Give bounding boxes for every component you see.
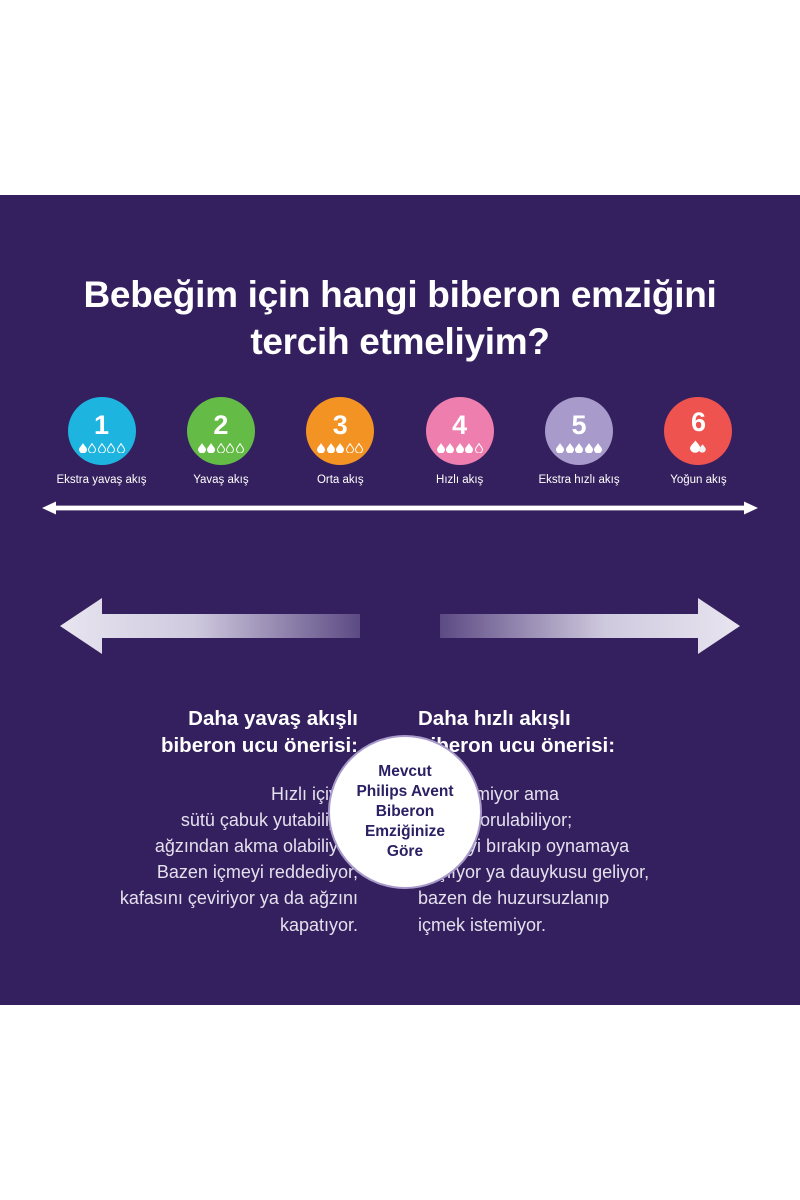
flow-circle-2[interactable]: 2 <box>187 397 255 465</box>
faster-flow-heading: Daha hızlı akışlı biberon ucu önerisi: <box>418 705 764 759</box>
flow-number-3: 3 <box>333 412 348 439</box>
drops-icon-3 <box>317 442 363 453</box>
slower-flow-body-line-1: Hızlı içiyor, <box>56 781 358 807</box>
flow-item-5[interactable]: 5 Ekstra hızlı akış <box>520 397 639 486</box>
infographic-canvas: Bebeğim için hangi biberon emziğini terc… <box>0 0 800 1200</box>
badge-line-1: Mevcut <box>356 762 453 782</box>
drop-icon-empty <box>98 443 106 453</box>
drop-icon-empty <box>475 443 483 453</box>
flow-label-3: Orta akış <box>317 474 364 486</box>
faster-flow-body-line-4: başlıyor ya dauykusu geliyor, <box>418 859 764 885</box>
drop-icon-filled <box>317 443 325 453</box>
drop-icon-empty <box>346 443 354 453</box>
flow-label-6: Yoğun akış <box>670 474 726 486</box>
drop-icon-empty <box>117 443 125 453</box>
flow-range-double-arrow <box>42 500 758 516</box>
slower-flow-body-line-6: kapatıyor. <box>56 912 358 938</box>
current-teat-badge-text: Mevcut Philips Avent Biberon Emziğinize … <box>356 762 453 863</box>
slower-flow-body-line-3: ağzından akma olabiliyor. <box>56 833 358 859</box>
slower-flow-body-line-5: kafasını çeviriyor ya da ağzını <box>56 885 358 911</box>
flow-label-2: Yavaş akış <box>193 474 248 486</box>
faster-flow-body-line-6: içmek istemiyor. <box>418 912 764 938</box>
slower-flow-body-line-4: Bazen içmeyi reddediyor, <box>56 859 358 885</box>
drop-icon-filled <box>446 443 454 453</box>
flow-circle-6[interactable]: 6 <box>664 397 732 465</box>
title-line-1: Bebeğim için hangi biberon emziğini <box>40 271 760 318</box>
flow-item-6[interactable]: 6 Yoğun akış <box>639 397 758 486</box>
slower-flow-heading-line-2: biberon ucu önerisi: <box>56 732 358 759</box>
title-line-2: tercih etmeliyim? <box>40 318 760 365</box>
slower-flow-body: Hızlı içiyor, sütü çabuk yutabiliyor, ağ… <box>56 781 358 938</box>
drop-icon-empty <box>226 443 234 453</box>
drop-icon-empty <box>107 443 115 453</box>
slower-flow-body-line-2: sütü çabuk yutabiliyor, <box>56 807 358 833</box>
drop-icon-filled <box>437 443 445 453</box>
badge-line-2: Philips Avent <box>356 782 453 802</box>
drop-icon-filled <box>198 443 206 453</box>
drop-icon-filled <box>207 443 215 453</box>
page-title: Bebeğim için hangi biberon emziğini terc… <box>0 271 800 366</box>
faster-flow-body-line-5: bazen de huzursuzlanıp <box>418 885 764 911</box>
drop-icon-empty <box>355 443 363 453</box>
flow-item-2[interactable]: 2 Yavaş akış <box>161 397 280 486</box>
flow-number-5: 5 <box>572 412 587 439</box>
faster-flow-heading-line-1: Daha hızlı akışlı <box>418 705 764 732</box>
drop-icon-empty <box>236 443 244 453</box>
flow-label-4: Hızlı akış <box>436 474 483 486</box>
slower-flow-heading: Daha yavaş akışlı biberon ucu önerisi: <box>56 705 358 759</box>
badge-line-5: Göre <box>356 842 453 862</box>
flow-number-6: 6 <box>691 409 706 436</box>
drops-icon-5 <box>556 442 602 453</box>
badge-line-4: Emziğinize <box>356 822 453 842</box>
flow-number-2: 2 <box>213 412 228 439</box>
flow-number-4: 4 <box>452 412 467 439</box>
faster-flow-heading-line-2: biberon ucu önerisi: <box>418 732 764 759</box>
flow-circle-5[interactable]: 5 <box>545 397 613 465</box>
flow-item-4[interactable]: 4 Hızlı akış <box>400 397 519 486</box>
drop-icon-filled <box>336 443 344 453</box>
flow-scale-row: 1 Ekstra yavaş akış 2 <box>42 397 758 486</box>
flow-item-3[interactable]: 3 Orta akış <box>281 397 400 486</box>
purple-panel: Bebeğim için hangi biberon emziğini terc… <box>0 195 800 1005</box>
drop-icon-filled <box>327 443 335 453</box>
drop-icon-filled <box>556 443 564 453</box>
flow-item-1[interactable]: 1 Ekstra yavaş akış <box>42 397 161 486</box>
direction-arrows <box>60 595 740 657</box>
flow-circle-3[interactable]: 3 <box>306 397 374 465</box>
flow-label-1: Ekstra yavaş akış <box>56 474 146 486</box>
badge-line-3: Biberon <box>356 802 453 822</box>
flow-circle-4[interactable]: 4 <box>426 397 494 465</box>
drop-icon-empty <box>217 443 225 453</box>
drops-icon-4 <box>437 442 483 453</box>
drop-icon-empty <box>88 443 96 453</box>
drop-icon-filled <box>566 443 574 453</box>
drop-icon-filled <box>79 443 87 453</box>
drop-icon-filled <box>594 443 602 453</box>
drop-icon-filled <box>585 443 593 453</box>
thick-flow-blob-icon <box>686 439 710 455</box>
flow-label-5: Ekstra hızlı akış <box>538 474 619 486</box>
drop-icon-filled <box>465 443 473 453</box>
drops-icon-1 <box>79 442 125 453</box>
drop-icon-filled <box>456 443 464 453</box>
flow-number-1: 1 <box>94 412 109 439</box>
current-teat-badge: Mevcut Philips Avent Biberon Emziğinize … <box>328 735 482 889</box>
flow-circle-1[interactable]: 1 <box>68 397 136 465</box>
drops-icon-2 <box>198 442 244 453</box>
slower-flow-heading-line-1: Daha yavaş akışlı <box>56 705 358 732</box>
drop-icon-filled <box>575 443 583 453</box>
